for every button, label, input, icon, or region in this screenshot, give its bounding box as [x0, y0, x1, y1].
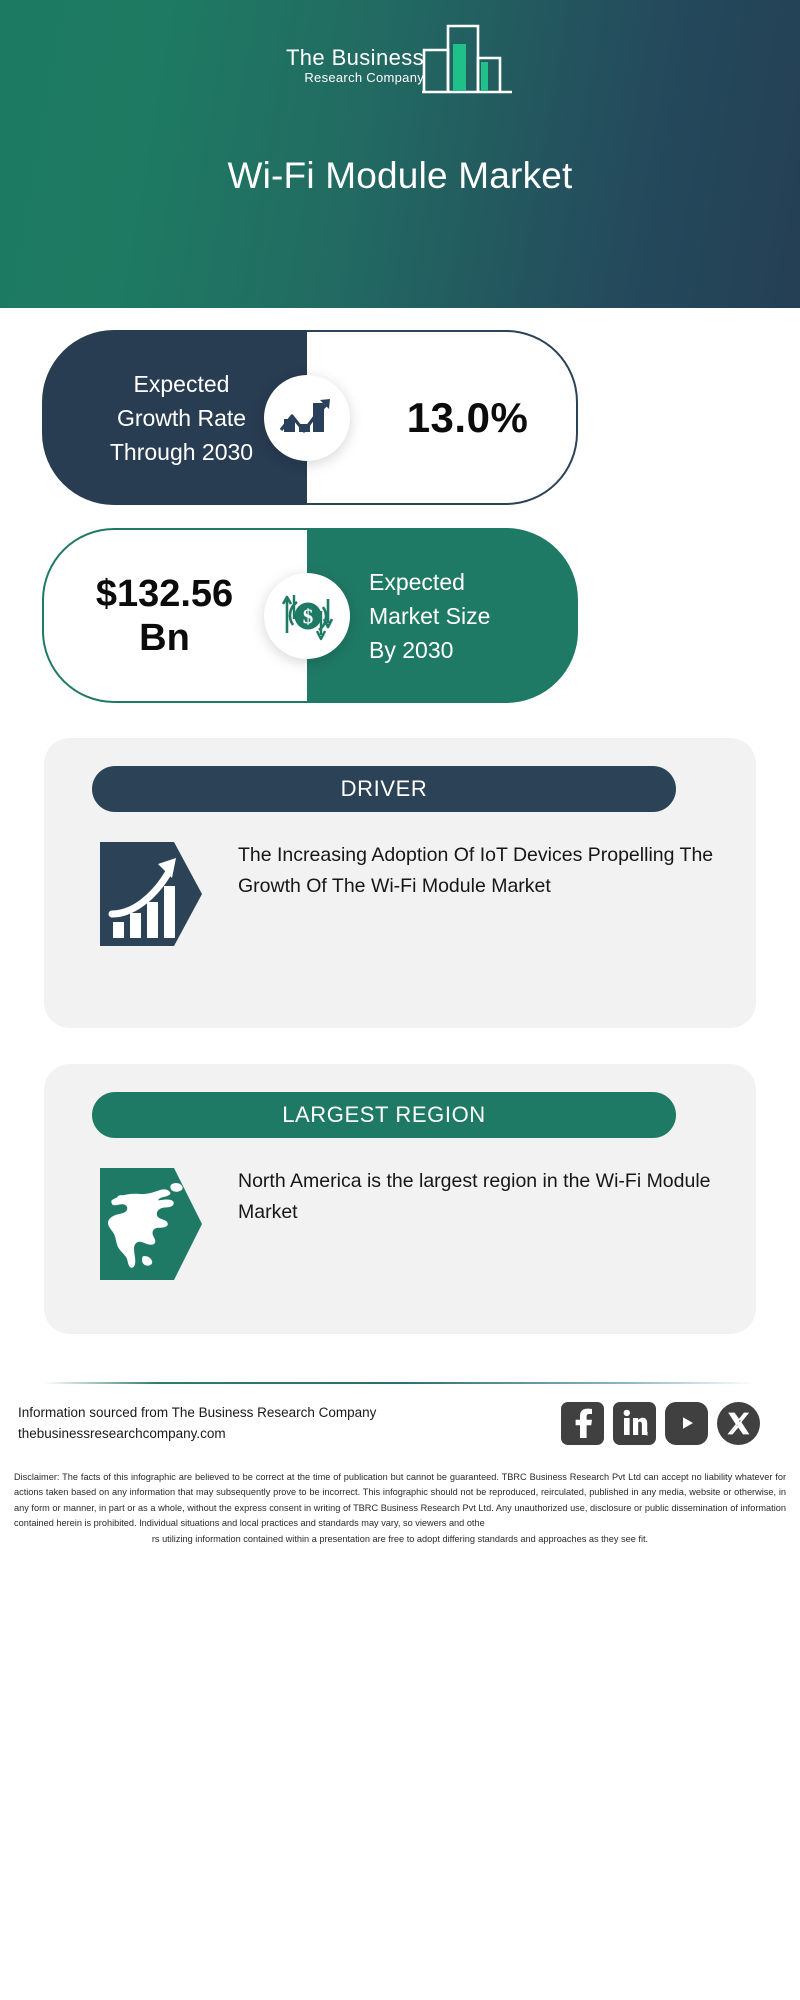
largest-region-pill-badge: LARGEST REGION	[92, 1092, 676, 1138]
footer: Information sourced from The Business Re…	[0, 1384, 800, 1462]
market-size-label-line2: Market Size	[369, 603, 490, 629]
driver-pill-badge: DRIVER	[92, 766, 676, 812]
x-twitter-icon[interactable]	[717, 1402, 760, 1445]
market-size-value-line2: Bn	[139, 617, 190, 659]
largest-region-panel: LARGEST REGION North America is the larg…	[44, 1064, 756, 1334]
growth-chart-arrow-icon	[264, 375, 350, 461]
rising-bar-chart-arrow-icon	[100, 842, 202, 946]
svg-text:$: $	[303, 604, 314, 628]
stat-card-growth-rate: Expected Growth Rate Through 2030 13.0%	[0, 308, 800, 505]
north-america-map-icon	[100, 1168, 202, 1280]
disclaimer-body: Disclaimer: The facts of this infographi…	[14, 1472, 786, 1528]
logo-line1: The Business	[286, 46, 424, 70]
stat-card-market-size: $132.56 Bn Expected Market Size By 2030 …	[0, 505, 800, 703]
linkedin-icon[interactable]: ®	[613, 1402, 656, 1445]
brand-logo: The Business Research Company	[0, 22, 800, 94]
bar-chart-logo-icon	[422, 22, 514, 94]
largest-region-text: North America is the largest region in t…	[202, 1164, 716, 1228]
dollar-circulation-icon: $	[264, 573, 350, 659]
disclaimer-last-line: rs utilizing information contained withi…	[14, 1532, 786, 1547]
footer-source: Information sourced from The Business Re…	[18, 1402, 376, 1444]
market-size-label-line1: Expected	[369, 569, 465, 595]
largest-region-pill-label: LARGEST REGION	[282, 1102, 486, 1128]
svg-text:®: ®	[646, 1431, 648, 1437]
growth-rate-label-line2: Growth Rate	[117, 405, 246, 431]
growth-rate-value: 13.0%	[355, 394, 529, 442]
driver-pill-label: DRIVER	[341, 776, 428, 802]
logo-line2: Research Company	[304, 70, 424, 86]
driver-text: The Increasing Adoption Of IoT Devices P…	[202, 838, 716, 902]
social-links: ®	[561, 1402, 760, 1445]
hero-header: The Business Research Company	[0, 0, 800, 308]
market-size-label-line3: By 2030	[369, 637, 453, 663]
disclaimer: Disclaimer: The facts of this infographi…	[0, 1462, 800, 1547]
page-title: Wi-Fi Module Market	[0, 155, 800, 197]
facebook-icon[interactable]	[561, 1402, 604, 1445]
footer-source-line2: thebusinessresearchcompany.com	[18, 1423, 376, 1444]
market-size-value-line1: $132.56	[96, 573, 233, 615]
youtube-icon[interactable]	[665, 1402, 708, 1445]
growth-rate-label-line3: Through 2030	[110, 439, 253, 465]
growth-rate-label-line1: Expected	[134, 371, 230, 397]
footer-source-line1: Information sourced from The Business Re…	[18, 1402, 376, 1423]
driver-panel: DRIVER The Increasing Adoption Of IoT De…	[44, 738, 756, 1028]
